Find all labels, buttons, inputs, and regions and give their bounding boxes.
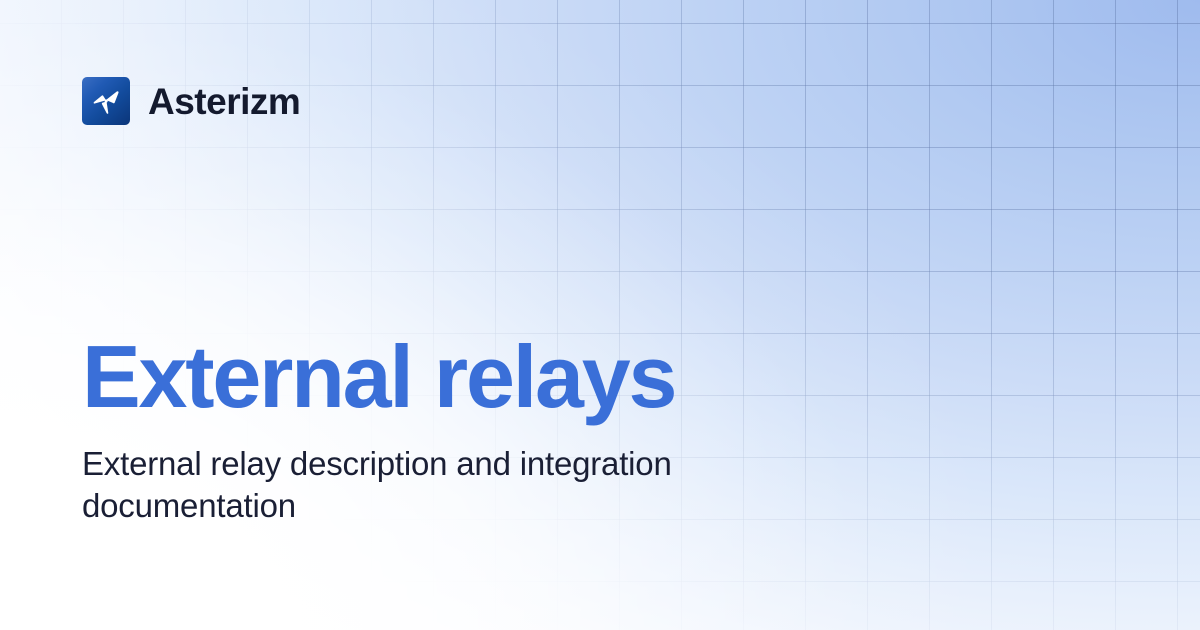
og-card: Asterizm External relays External relay … (0, 0, 1200, 630)
brand-name: Asterizm (148, 83, 300, 120)
brand-lockup: Asterizm (82, 77, 300, 125)
page-subtitle: External relay description and integrati… (82, 443, 802, 527)
asterizm-propeller-icon (82, 77, 130, 125)
headline-block: External relays External relay descripti… (82, 332, 902, 527)
page-title: External relays (82, 332, 902, 423)
